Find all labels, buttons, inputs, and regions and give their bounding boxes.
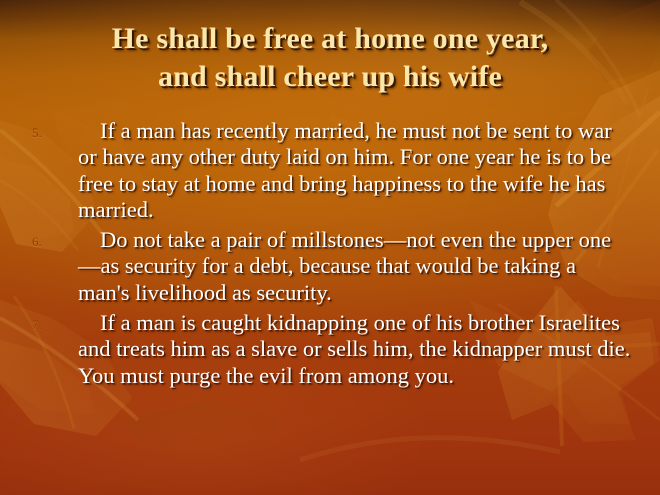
slide-title: He shall be free at home one year, and s… [26, 20, 634, 96]
list-item-text: If a man has recently married, he must n… [78, 118, 632, 223]
list-item-number: 6. [32, 234, 66, 250]
list-item: 5. If a man has recently married, he mus… [28, 118, 632, 223]
list-item-number: 7. [32, 317, 66, 333]
slide-title-line-2: and shall cheer up his wife [26, 58, 634, 96]
numbered-list: 5. If a man has recently married, he mus… [28, 118, 632, 393]
list-item-number: 5. [32, 125, 66, 141]
list-item: 7. If a man is caught kidnapping one of … [28, 310, 632, 389]
presentation-slide: He shall be free at home one year, and s… [0, 0, 660, 495]
list-item-text: Do not take a pair of millstones—not eve… [78, 227, 632, 306]
list-item: 6. Do not take a pair of millstones—not … [28, 227, 632, 306]
list-item-text: If a man is caught kidnapping one of his… [78, 310, 632, 389]
slide-title-line-1: He shall be free at home one year, [26, 20, 634, 58]
